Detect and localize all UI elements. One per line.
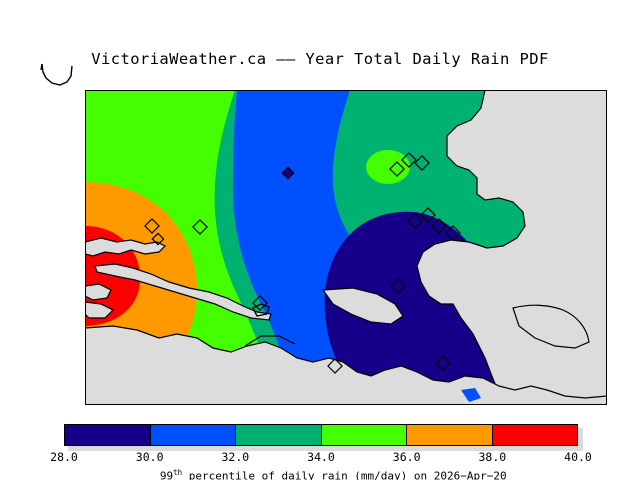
- colorbar-caption: 99th percentile of daily rain (mm/day) o…: [0, 455, 640, 480]
- page-title: VictoriaWeather.ca —— Year Total Daily R…: [0, 50, 640, 68]
- colorbar-band-3[interactable]: [322, 425, 408, 445]
- colorbar-band-4[interactable]: [407, 425, 493, 445]
- contour-blob-34-36-inner: [366, 150, 410, 184]
- map-canvas[interactable]: [85, 90, 607, 405]
- caption-suffix: percentile of daily rain (mm/day) on 202…: [182, 470, 507, 480]
- caption-superscript: th: [173, 468, 182, 477]
- map-contour-plot: [85, 90, 607, 405]
- colorbar-band-0[interactable]: [65, 425, 151, 445]
- colorbar-band-2[interactable]: [236, 425, 322, 445]
- stray-coastline-fragment: [30, 58, 90, 98]
- colorbar-band-1[interactable]: [151, 425, 237, 445]
- colorbar: 28.030.032.034.036.038.040.0: [64, 424, 578, 446]
- colorbar-band-5[interactable]: [493, 425, 578, 445]
- caption-prefix: 99: [160, 470, 173, 480]
- colorbar-bands[interactable]: [64, 424, 578, 446]
- weather-map-page: VictoriaWeather.ca —— Year Total Daily R…: [0, 0, 640, 480]
